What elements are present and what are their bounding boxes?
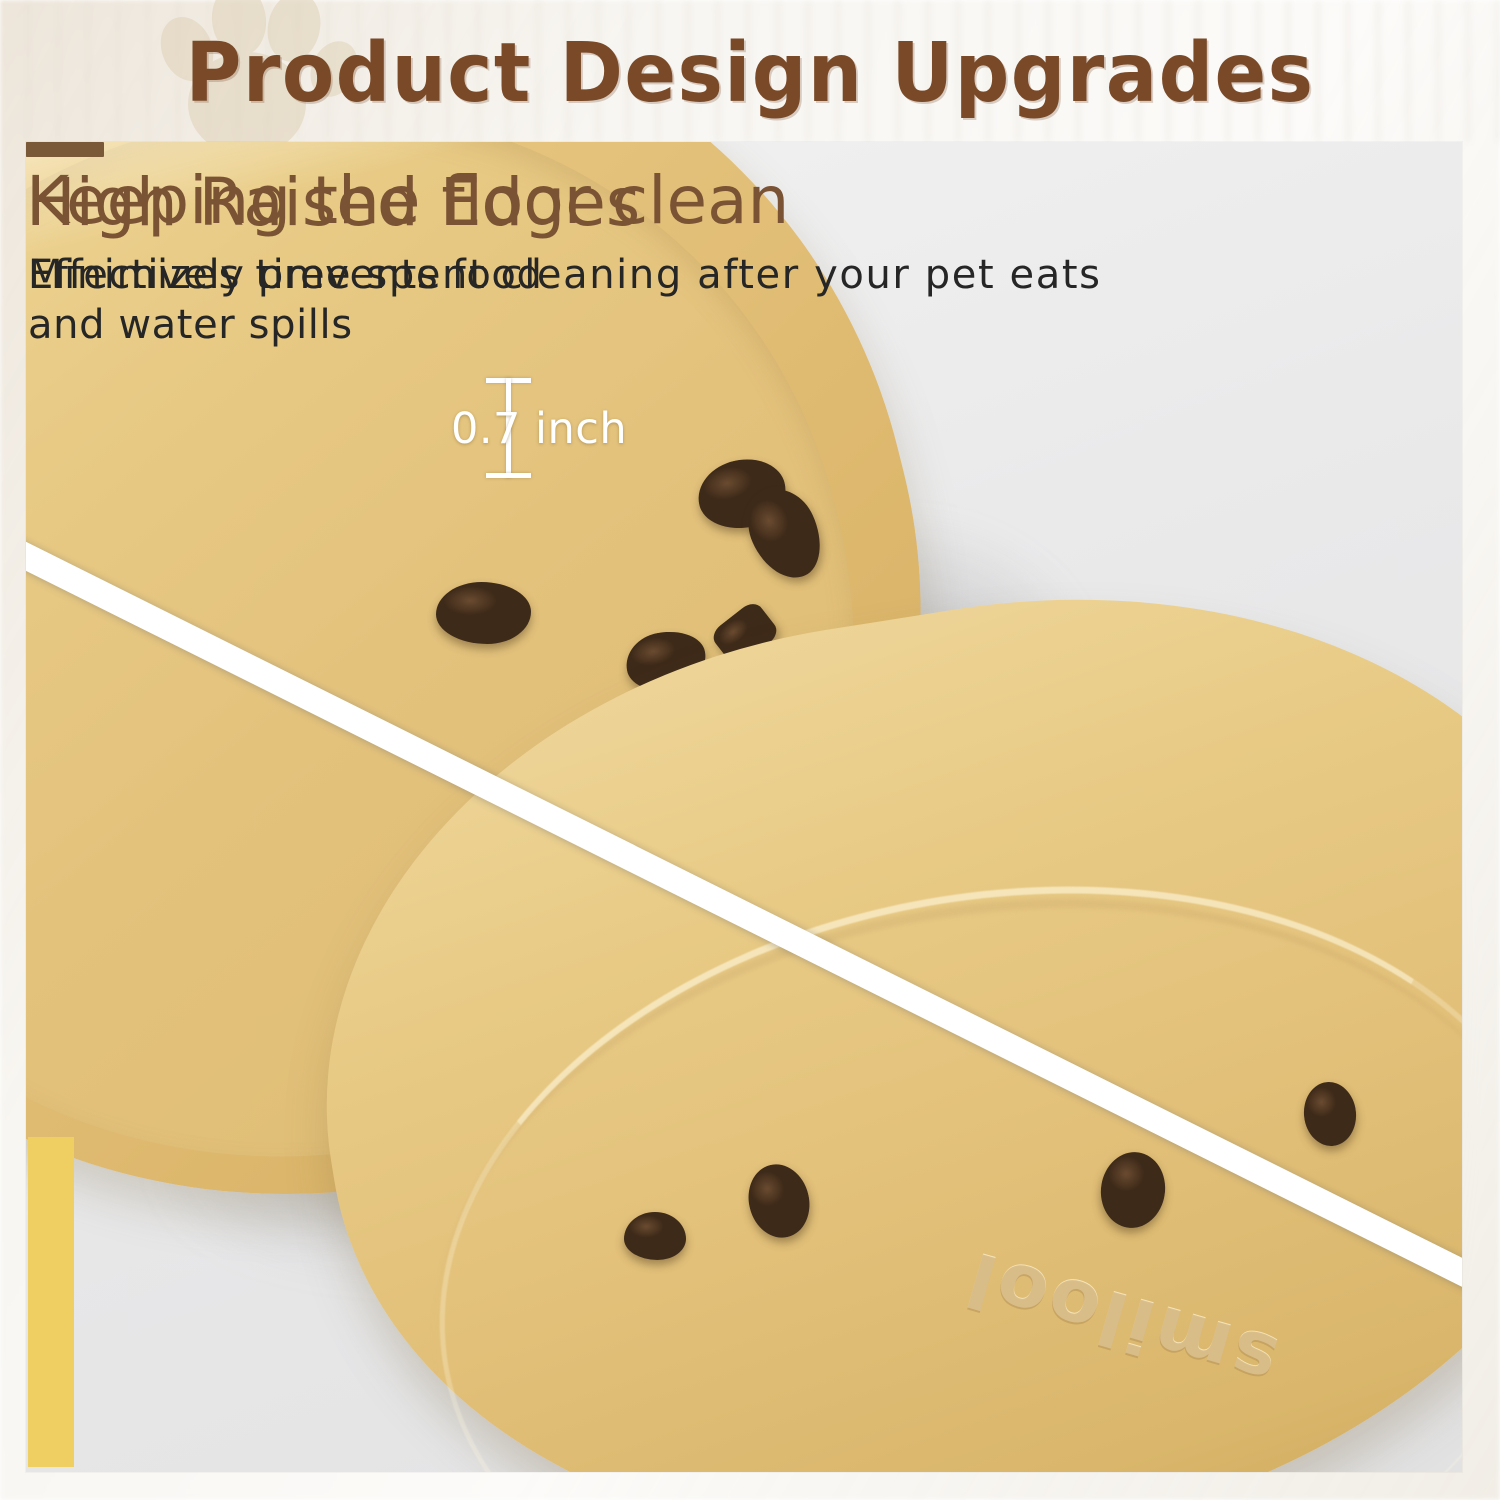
dimension-cap-bottom xyxy=(486,473,531,478)
accent-bar xyxy=(28,1137,74,1467)
infographic-canvas: Product Design Upgrades smilool xyxy=(0,0,1500,1500)
header-banner: Product Design Upgrades xyxy=(0,0,1500,145)
page-title: Product Design Upgrades xyxy=(53,22,1448,126)
bowl-underside-view xyxy=(326,612,1462,1472)
caption-subtext: Minimizes time spent cleaning after your… xyxy=(28,250,1102,300)
caption-dash xyxy=(26,142,98,157)
kibble-piece xyxy=(624,1212,686,1260)
caption-heading: Keeping the floor clean xyxy=(26,164,789,238)
dimension-label: 0.7 inch xyxy=(451,404,627,454)
product-photo-panel: smilool 0.7 inch High Raised Edges Effec… xyxy=(26,142,1462,1472)
